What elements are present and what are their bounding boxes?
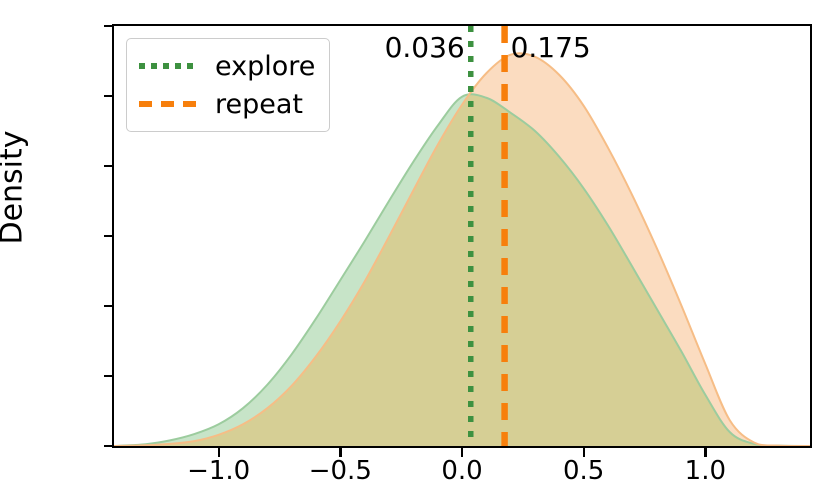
legend-entry-repeat: repeat: [137, 85, 315, 123]
x-tick-label: 1.0: [635, 458, 775, 484]
legend-swatch-explore-dotted-line: [137, 56, 199, 76]
legend: explore repeat: [126, 38, 330, 132]
x-tick-label: 0.5: [514, 458, 654, 484]
y-axis-label: Density: [0, 38, 30, 338]
density-plot-figure: Density 0.00.20.40.60.81.01.2 −1.0−0.50.…: [0, 0, 830, 503]
x-tick-label: −0.5: [270, 458, 410, 484]
x-tick-mark: [218, 448, 220, 457]
annotation-repeat-mean: 0.175: [511, 34, 591, 62]
x-tick-label: 0.0: [392, 458, 532, 484]
annotation-explore-mean: 0.036: [385, 34, 465, 62]
x-tick-mark: [461, 448, 463, 457]
legend-entry-explore: explore: [137, 47, 315, 85]
legend-swatch-repeat-dashed-line: [137, 94, 199, 114]
legend-label-repeat: repeat: [215, 91, 303, 118]
legend-label-explore: explore: [215, 53, 315, 80]
x-tick-label: −1.0: [149, 458, 289, 484]
x-tick-mark: [704, 448, 706, 457]
x-tick-mark: [583, 448, 585, 457]
x-tick-mark: [339, 448, 341, 457]
